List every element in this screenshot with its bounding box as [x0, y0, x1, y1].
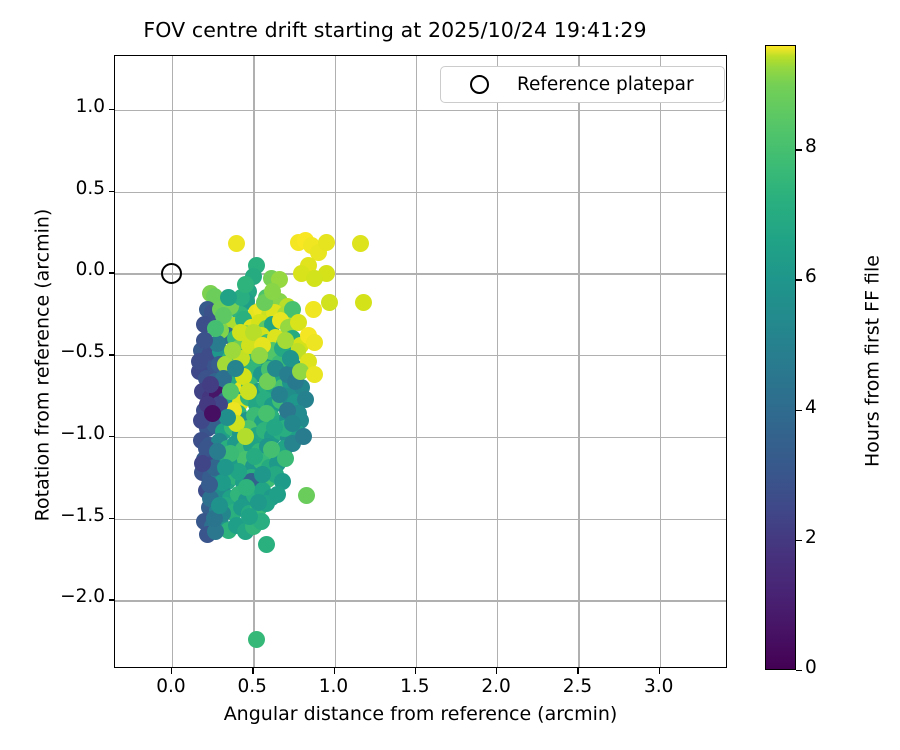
x-tick-label: 3.0 — [624, 676, 694, 697]
y-tick-mark — [109, 272, 115, 273]
x-tick-mark — [577, 668, 578, 674]
x-tick-mark — [334, 668, 335, 674]
legend: Reference platepar — [440, 66, 725, 103]
y-tick-mark — [109, 191, 115, 192]
colorbar-tick-label: 4 — [805, 397, 817, 418]
y-tick-mark — [109, 599, 115, 600]
plot-axes — [114, 55, 727, 668]
colorbar — [765, 45, 796, 670]
x-tick-label: 0.5 — [217, 676, 287, 697]
x-tick-label: 2.5 — [542, 676, 612, 697]
x-tick-label: 1.5 — [380, 676, 450, 697]
page-title: FOV centre drift starting at 2025/10/24 … — [0, 18, 790, 42]
reference-marker-layer — [115, 56, 726, 667]
colorbar-tick-mark — [796, 149, 802, 150]
y-tick-mark — [109, 109, 115, 110]
x-tick-mark — [659, 668, 660, 674]
y-tick-mark — [109, 436, 115, 437]
colorbar-tick-mark — [796, 670, 802, 671]
x-tick-mark — [171, 668, 172, 674]
colorbar-tick-label: 6 — [805, 266, 817, 287]
legend-entry-label: Reference platepar — [517, 74, 694, 95]
x-tick-mark — [415, 668, 416, 674]
x-axis-label: Angular distance from reference (arcmin) — [114, 703, 727, 725]
colorbar-tick-label: 2 — [805, 527, 817, 548]
x-tick-label: 1.0 — [299, 676, 369, 697]
x-tick-label: 0.0 — [136, 676, 206, 697]
figure-container: FOV centre drift starting at 2025/10/24 … — [0, 0, 900, 750]
colorbar-label: Hours from first FF file — [862, 49, 884, 674]
colorbar-tick-mark — [796, 410, 802, 411]
y-tick-mark — [109, 354, 115, 355]
colorbar-tick-label: 8 — [805, 136, 817, 157]
x-tick-mark — [252, 668, 253, 674]
y-axis-label: Rotation from reference (arcmin) — [32, 59, 54, 672]
colorbar-tick-mark — [796, 279, 802, 280]
reference-platepar-marker — [161, 263, 182, 284]
x-tick-label: 2.0 — [461, 676, 531, 697]
legend-marker-wrap — [441, 75, 517, 94]
colorbar-tick-label: 0 — [805, 657, 817, 678]
colorbar-gradient — [765, 45, 796, 670]
colorbar-tick-mark — [796, 540, 802, 541]
x-tick-mark — [496, 668, 497, 674]
y-tick-mark — [109, 518, 115, 519]
open-circle-icon — [470, 75, 489, 94]
